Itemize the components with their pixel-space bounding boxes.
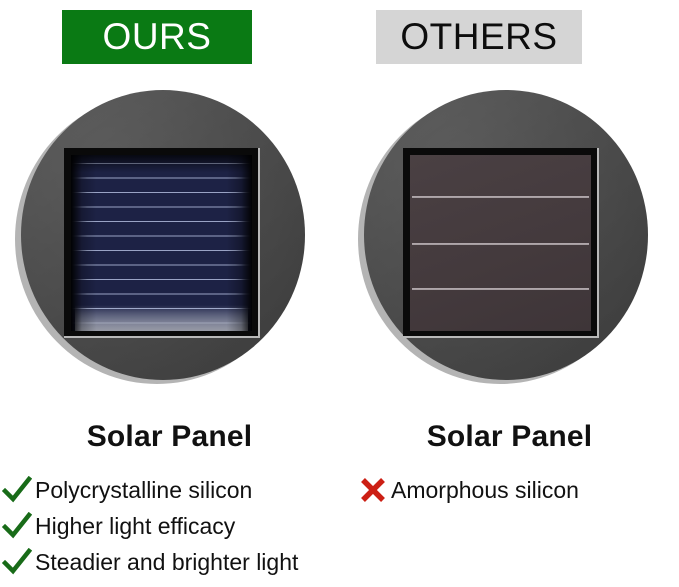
panel-face-polycrystalline [71, 155, 252, 331]
panel-caption-ours: Solar Panel [0, 420, 339, 454]
lamp-housing-ours [15, 90, 305, 388]
panel-busbars [410, 155, 591, 331]
solar-panel-comparison: OURS Solar Panel Polycrystalline silic [0, 0, 679, 587]
feature-label: Higher light efficacy [32, 513, 235, 540]
check-icon [2, 476, 32, 504]
comparison-column-others: OTHERS Solar Panel Amorphous silicon [340, 0, 679, 587]
panel-glow [75, 305, 249, 331]
badge-others: OTHERS [376, 10, 582, 64]
solar-panel-ours [64, 148, 260, 338]
list-item: Polycrystalline silicon [0, 472, 339, 508]
cross-icon [358, 476, 388, 504]
panel-vignette [71, 155, 252, 331]
list-item: Steadier and brighter light [0, 544, 339, 580]
check-icon [2, 512, 32, 540]
feature-label: Amorphous silicon [388, 477, 579, 504]
lamp-housing-others [358, 90, 648, 388]
check-icon [2, 548, 32, 576]
list-item: Higher light efficacy [0, 508, 339, 544]
solar-panel-others [403, 148, 599, 338]
feature-label: Polycrystalline silicon [32, 477, 252, 504]
feature-label: Steadier and brighter light [32, 549, 298, 576]
list-item: Amorphous silicon [348, 472, 679, 508]
badge-ours: OURS [62, 10, 252, 64]
panel-face-amorphous [410, 155, 591, 331]
panel-caption-others: Solar Panel [340, 420, 679, 454]
comparison-column-ours: OURS Solar Panel Polycrystalline silic [0, 0, 339, 587]
feature-list-ours: Polycrystalline silicon Higher light eff… [0, 472, 339, 580]
panel-busbars [71, 163, 252, 327]
feature-list-others: Amorphous silicon [348, 472, 679, 508]
